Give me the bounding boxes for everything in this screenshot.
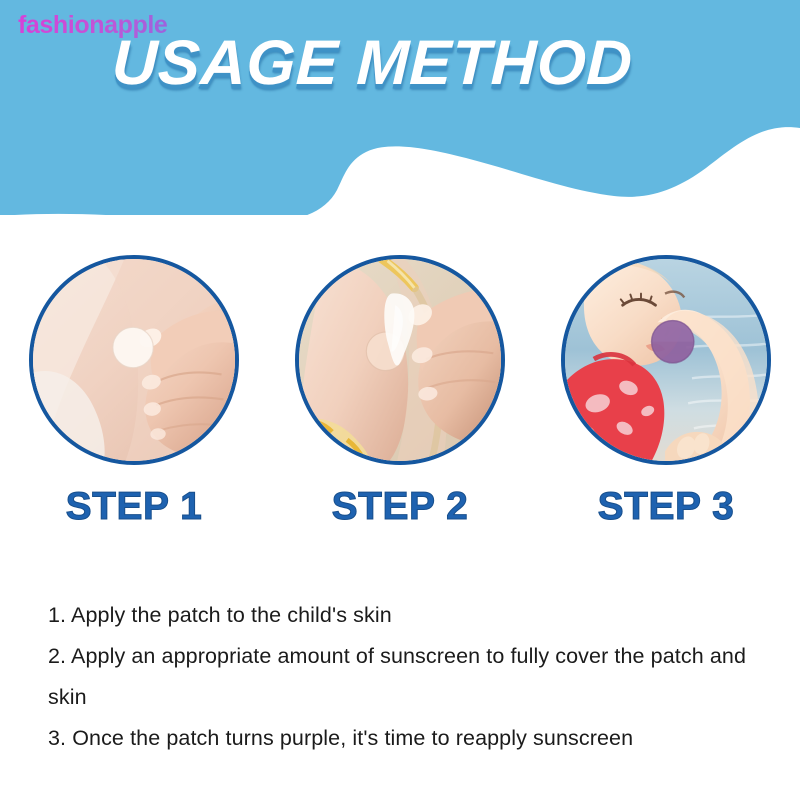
header-banner: USAGE METHOD fashionapple (0, 0, 800, 215)
watermark-fashionapple: fashionapple (18, 11, 167, 40)
step-item-1: STEP 1 (1, 255, 267, 526)
page-title: USAGE METHOD (111, 32, 634, 95)
step-item-2: STEP 2 (267, 255, 533, 526)
step-item-3: STEP 3 (533, 255, 799, 526)
step-1-photo-frame (29, 255, 239, 465)
instruction-line-3: 3. Once the patch turns purple, it's tim… (48, 718, 764, 759)
step-2-label: STEP 2 (332, 487, 469, 526)
step-1-label: STEP 1 (66, 487, 203, 526)
step-3-photo-frame (561, 255, 771, 465)
step-3-photo (565, 259, 767, 461)
instructions-list: 1. Apply the patch to the child's skin 2… (48, 595, 764, 759)
instruction-line-1: 1. Apply the patch to the child's skin (48, 595, 764, 636)
step-1-photo (33, 259, 235, 461)
step-2-photo-frame (295, 255, 505, 465)
steps-row: STEP 1 (0, 255, 800, 526)
instruction-line-2: 2. Apply an appropriate amount of sunscr… (48, 636, 764, 718)
step-2-photo (299, 259, 501, 461)
step-3-label: STEP 3 (598, 487, 735, 526)
